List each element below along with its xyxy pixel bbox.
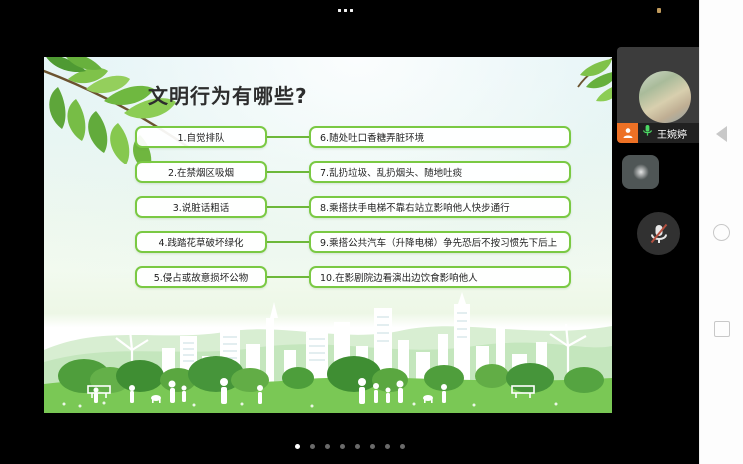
page-indicator[interactable]	[0, 444, 700, 449]
list-item-label: 9.乘搭公共汽车（升降电梯）争先恐后不按习惯先下后上	[320, 235, 557, 249]
recents-icon[interactable]	[712, 318, 732, 338]
android-nav-bar	[699, 0, 743, 464]
participant-name-bar: 王婉婷	[617, 123, 712, 143]
avatar	[639, 71, 691, 123]
status-bar-dots	[338, 9, 353, 12]
shared-presentation-slide[interactable]: 文明行为有哪些? 1.自觉排队 2.在禁烟区吸烟 3.说脏话粗话 4.践踏花草破…	[44, 57, 612, 413]
slide-title: 文明行为有哪些?	[148, 80, 308, 109]
page-dot[interactable]	[370, 444, 375, 449]
participant-name: 王婉婷	[657, 126, 687, 141]
list-item-right: 9.乘搭公共汽车（升降电梯）争先恐后不按习惯先下后上	[309, 231, 571, 253]
list-item-label: 1.自觉排队	[177, 130, 224, 144]
list-item-right: 8.乘搭扶手电梯不靠右站立影响他人快步通行	[309, 196, 571, 218]
list-item-label: 10.在影剧院边看演出边饮食影响他人	[320, 270, 478, 284]
list-item-label: 6.随处吐口香糖弄脏环境	[320, 130, 424, 144]
connector-line	[267, 241, 309, 243]
list-item-right: 6.随处吐口香糖弄脏环境	[309, 126, 571, 148]
connector-line	[267, 206, 309, 208]
list-item-label: 7.乱扔垃圾、乱扔烟头、随地吐痰	[320, 165, 462, 179]
eco-city-illustration	[44, 288, 612, 413]
list-item-left: 3.说脏话粗话	[135, 196, 267, 218]
share-preview-thumbnail	[633, 164, 649, 180]
mic-toggle-button[interactable]	[637, 212, 680, 255]
microphone-icon	[642, 124, 653, 142]
page-dot[interactable]	[325, 444, 330, 449]
page-dot[interactable]	[400, 444, 405, 449]
list-item-left: 5.侵占或故意损坏公物	[135, 266, 267, 288]
leaf-corner-decoration	[542, 57, 612, 123]
list-item-left: 1.自觉排队	[135, 126, 267, 148]
back-icon[interactable]	[712, 124, 732, 144]
connector-line	[267, 171, 309, 173]
connector-line	[267, 276, 309, 278]
microphone-muted-icon	[648, 222, 670, 246]
list-item-right: 7.乱扔垃圾、乱扔烟头、随地吐痰	[309, 161, 571, 183]
list-item-label: 3.说脏话粗话	[173, 200, 230, 214]
list-item-label: 8.乘搭扶手电梯不靠右站立影响他人快步通行	[320, 200, 510, 214]
status-bar-indicator-icon	[657, 8, 661, 13]
page-dot[interactable]	[310, 444, 315, 449]
connector-line	[267, 136, 309, 138]
page-dot[interactable]	[295, 444, 300, 449]
home-icon[interactable]	[712, 222, 732, 242]
tablet-screen: 文明行为有哪些? 1.自觉排队 2.在禁烟区吸烟 3.说脏话粗话 4.践踏花草破…	[0, 0, 743, 464]
list-item-left: 4.践踏花草破坏绿化	[135, 231, 267, 253]
page-dot[interactable]	[340, 444, 345, 449]
page-dot[interactable]	[355, 444, 360, 449]
page-dot[interactable]	[385, 444, 390, 449]
list-item-left: 2.在禁烟区吸烟	[135, 161, 267, 183]
list-item-label: 5.侵占或故意损坏公物	[154, 270, 249, 284]
list-item-label: 4.践踏花草破坏绿化	[158, 235, 243, 249]
person-icon	[617, 123, 638, 143]
share-preview-button[interactable]	[622, 155, 659, 189]
video-participant-tile[interactable]: 王婉婷	[617, 47, 712, 143]
list-item-right: 10.在影剧院边看演出边饮食影响他人	[309, 266, 571, 288]
status-bar	[0, 0, 700, 22]
list-item-label: 2.在禁烟区吸烟	[168, 165, 234, 179]
